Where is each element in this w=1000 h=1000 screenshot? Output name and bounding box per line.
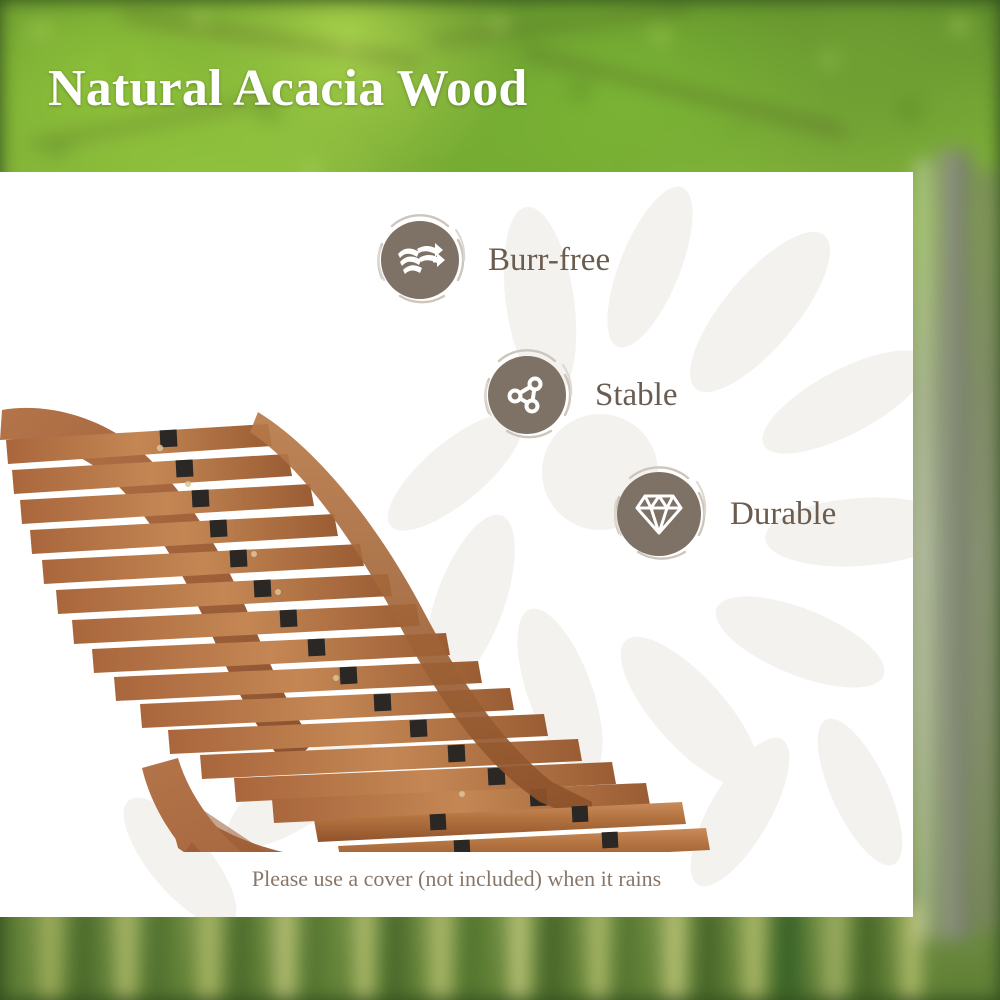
feature-disc xyxy=(617,472,701,556)
background-tree-trunk xyxy=(74,905,102,1000)
feature-badge xyxy=(374,214,466,306)
background-tree-trunk xyxy=(916,160,930,940)
background-tree-trunk xyxy=(858,905,884,1000)
feature-badge xyxy=(481,349,573,441)
background-tree-trunk xyxy=(308,905,338,1000)
background-tree-trunk xyxy=(978,170,996,930)
background-tree-trunk xyxy=(232,905,258,1000)
background-tree-trunk xyxy=(620,905,646,1000)
background-tree-trunk xyxy=(38,905,58,1000)
diamond-icon xyxy=(634,490,684,538)
background-tree-trunk xyxy=(900,905,920,1000)
background-tree-trunk xyxy=(698,905,726,1000)
background-tree-trunk xyxy=(196,905,218,1000)
smooth-waves-icon xyxy=(395,240,445,280)
network-nodes-icon xyxy=(504,372,550,418)
feature-disc xyxy=(381,221,459,299)
feature-label: Burr-free xyxy=(488,242,610,279)
background-tree-trunk xyxy=(354,905,372,1000)
content-card: Burr-free xyxy=(0,172,913,917)
feature-label: Stable xyxy=(595,377,677,414)
background-tree-trunk xyxy=(386,905,412,1000)
background-tree-trunk xyxy=(150,905,180,1000)
feature-disc xyxy=(488,356,566,434)
feature-label: Durable xyxy=(730,496,836,533)
background-tree-trunk xyxy=(742,905,762,1000)
background-tree-trunk xyxy=(776,905,806,1000)
footer-caption: Please use a cover (not included) when i… xyxy=(0,866,913,892)
background-tree-trunk xyxy=(274,905,294,1000)
background-tree-trunk xyxy=(464,905,492,1000)
background-tree-trunk xyxy=(938,150,972,940)
feature-stable[interactable]: Stable xyxy=(481,349,677,441)
background-tree-trunk xyxy=(662,905,684,1000)
background-tree-trunk xyxy=(0,905,26,1000)
background-tree-trunk xyxy=(508,905,528,1000)
feature-badge xyxy=(610,465,708,563)
background-tree-trunk xyxy=(116,905,134,1000)
feature-burr-free[interactable]: Burr-free xyxy=(374,214,610,306)
background-tree-trunk xyxy=(428,905,450,1000)
background-tree-trunk xyxy=(542,905,572,1000)
background-tree-trunk xyxy=(822,905,844,1000)
feature-durable[interactable]: Durable xyxy=(610,465,836,563)
background-tree-trunk xyxy=(588,905,606,1000)
page-title: Natural Acacia Wood xyxy=(48,62,528,117)
